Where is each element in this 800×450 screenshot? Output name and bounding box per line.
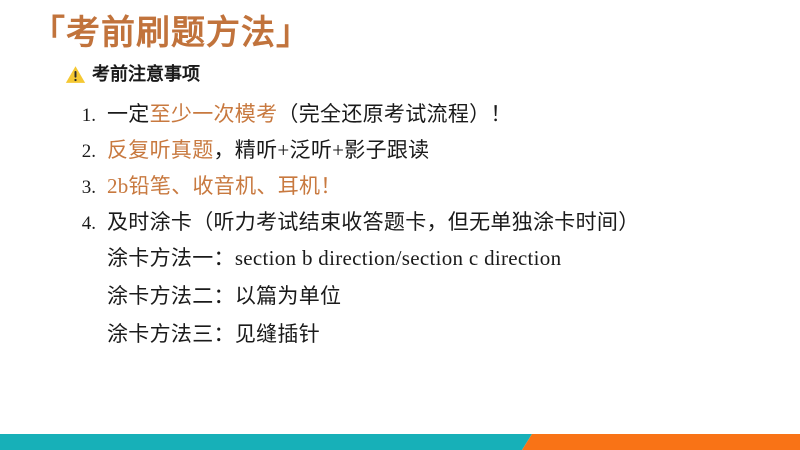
list-item: 1. 一定至少一次模考（完全还原考试流程）！ (62, 100, 782, 136)
bottom-bar-left-segment (0, 434, 532, 450)
sub-line-value: 见缝插针 (235, 322, 320, 346)
text-segment: 一定 (107, 102, 150, 126)
sub-line: 涂卡方法二：以篇为单位 (62, 282, 782, 320)
sub-line-body: 涂卡方法三：见缝插针 (96, 320, 320, 348)
sub-line-value: section b direction/section c direction (235, 246, 562, 270)
list-item-number: 3. (62, 177, 96, 199)
bottom-bar-right-segment (522, 434, 800, 450)
bottom-decoration-bar (0, 434, 800, 450)
text-segment-accent: 2b铅笔、收音机、耳机！ (107, 174, 342, 198)
list-item: 4. 及时涂卡（听力考试结束收答题卡，但无单独涂卡时间） (62, 208, 782, 244)
list-item-body: 及时涂卡（听力考试结束收答题卡，但无单独涂卡时间） (96, 208, 640, 236)
sub-line-label: 涂卡方法二： (107, 284, 235, 308)
list-item-body: 2b铅笔、收音机、耳机！ (96, 172, 342, 200)
numbered-list: 1. 一定至少一次模考（完全还原考试流程）！ 2. 反复听真题，精听+泛听+影子… (62, 100, 782, 358)
list-item: 2. 反复听真题，精听+泛听+影子跟读 (62, 136, 782, 172)
text-segment: ，精听+泛听+影子跟读 (214, 138, 430, 162)
text-segment-accent: 至少一次模考 (150, 102, 278, 126)
list-item: 3. 2b铅笔、收音机、耳机！ (62, 172, 782, 208)
list-item-number: 1. (62, 105, 96, 127)
warning-triangle-icon (65, 64, 86, 85)
text-segment-accent: 反复听真题 (107, 138, 214, 162)
sub-line-label: 涂卡方法三： (107, 322, 235, 346)
slide-canvas: 「考前刷题方法」 考前注意事项 1. 一定至少一次模考（完全还原考试流程）！ 2… (0, 0, 800, 450)
page-title: 「考前刷题方法」 (31, 13, 311, 55)
sub-line: 涂卡方法三：见缝插针 (62, 320, 782, 358)
sub-line-value: 以篇为单位 (235, 284, 342, 308)
list-item-number: 4. (62, 213, 96, 235)
text-segment: 及时涂卡（听力考试结束收答题卡，但无单独涂卡时间） (107, 210, 640, 234)
sub-line-label: 涂卡方法一： (107, 246, 235, 270)
warning-heading-text: 考前注意事项 (92, 63, 200, 85)
sub-line: 涂卡方法一：section b direction/section c dire… (62, 244, 782, 282)
text-segment: （完全还原考试流程）！ (277, 102, 511, 126)
sub-line-body: 涂卡方法二：以篇为单位 (96, 282, 341, 310)
warning-heading: 考前注意事项 (65, 63, 200, 85)
list-item-number: 2. (62, 141, 96, 163)
sub-line-body: 涂卡方法一：section b direction/section c dire… (96, 244, 561, 272)
list-item-body: 反复听真题，精听+泛听+影子跟读 (96, 136, 430, 164)
list-item-body: 一定至少一次模考（完全还原考试流程）！ (96, 100, 512, 128)
